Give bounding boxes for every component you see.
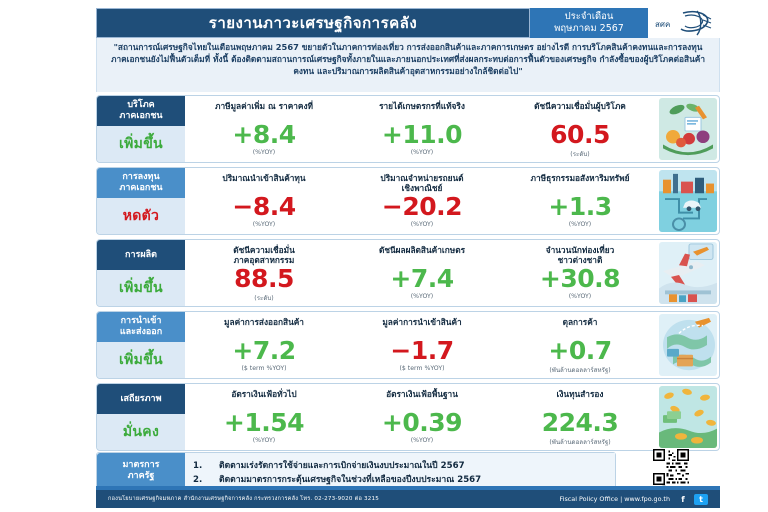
metric-value: 88.5	[234, 266, 294, 292]
metrics-group: มูลค่าการส่งออกสินค้า +7.2 ($ term %YOY)…	[185, 312, 659, 378]
category-title: การนำเข้าและส่งออก	[97, 312, 185, 342]
metrics-group: อัตราเงินเฟ้อทั่วไป +1.54 (%YOY) อัตราเง…	[185, 384, 659, 450]
metrics-group: ดัชนีความเชื่อมั่นภาคอุตสาหกรรม 88.5 (ระ…	[185, 240, 659, 306]
metric-label: อัตราเงินเฟ้อทั่วไป	[231, 389, 296, 409]
metric-label: ดัชนีผลผลิตสินค้าเกษตร	[379, 245, 465, 265]
metric-value: −8.4	[232, 194, 295, 220]
metric-value: −20.2	[382, 194, 462, 220]
status-badge: หดตัว	[97, 198, 185, 234]
metric-value: +0.7	[548, 338, 611, 364]
metric-cell: จำนวนนักท่องเที่ยวชาวต่างชาติ +30.8 (%YO…	[501, 240, 659, 306]
category-title: การผลิต	[97, 240, 185, 270]
period-label: ประจำเดือน	[565, 11, 614, 23]
metric-unit: ($ term %YOY)	[399, 365, 444, 372]
metric-cell: ภาษีมูลค่าเพิ่ม ณ ราคาคงที่ +8.4 (%YOY)	[185, 96, 343, 162]
indicator-row-investment: การลงทุนภาคเอกชน หดตัว ปริมาณนำเข้าสินค้…	[96, 167, 720, 235]
metric-label: เงินทุนสำรอง	[557, 389, 604, 409]
metric-value: +7.4	[390, 266, 453, 292]
metric-unit: (พันล้านดอลลาร์สหรัฐ)	[549, 437, 610, 447]
metric-value: +1.3	[548, 194, 611, 220]
category-title: มาตรการภาครัฐ	[97, 453, 185, 489]
metrics-group: ภาษีมูลค่าเพิ่ม ณ ราคาคงที่ +8.4 (%YOY) …	[185, 96, 659, 162]
indicator-row-production: การผลิต เพิ่มขึ้น ดัชนีความเชื่อมั่นภาคอ…	[96, 239, 720, 307]
category-title: การลงทุนภาคเอกชน	[97, 168, 185, 198]
fpo-logo-icon: สศค	[648, 8, 720, 38]
metric-label: มูลค่าการส่งออกสินค้า	[224, 317, 304, 337]
metric-unit: (%YOY)	[411, 221, 433, 228]
metric-label: มูลค่าการนำเข้าสินค้า	[382, 317, 461, 337]
metric-value: +7.2	[232, 338, 295, 364]
metric-value: +11.0	[382, 122, 462, 148]
infographic-page: รายงานภาวะเศรษฐกิจการคลัง ประจำเดือน พฤษ…	[0, 0, 768, 512]
metric-label: ดุลการค้า	[563, 317, 598, 337]
category-block: มาตรการภาครัฐ	[97, 453, 185, 489]
investment-factory-icon	[659, 170, 717, 232]
footer-contact: กองนโยบายเศรษฐกิจมหภาค สำนักงานเศรษฐกิจก…	[96, 495, 559, 503]
metric-cell: อัตราเงินเฟ้อพื้นฐาน +0.39 (%YOY)	[343, 384, 501, 450]
metric-label: ดัชนีความเชื่อมั่นผู้บริโภค	[534, 101, 626, 121]
qr-code-icon[interactable]	[652, 449, 690, 485]
metric-label: ปริมาณจำหน่ายรถยนต์เชิงพาณิชย์	[380, 173, 463, 193]
stability-coins-icon	[659, 386, 717, 448]
metric-unit: (%YOY)	[569, 221, 591, 228]
category-title: บริโภคภาคเอกชน	[97, 96, 185, 126]
metric-unit: (%YOY)	[253, 221, 275, 228]
period-badge: ประจำเดือน พฤษภาคม 2567	[530, 8, 648, 38]
metric-cell: รายได้เกษตรกรที่แท้จริง +11.0 (%YOY)	[343, 96, 501, 162]
metric-unit: (พันล้านดอลลาร์สหรัฐ)	[549, 365, 610, 375]
metric-value: 224.3	[542, 410, 619, 436]
metric-unit: (%YOY)	[569, 293, 591, 300]
metric-unit: (%YOY)	[411, 293, 433, 300]
list-item-number: 2.	[193, 475, 219, 485]
trade-globe-icon	[659, 314, 717, 376]
metric-value: +1.54	[224, 410, 304, 436]
metric-value: −1.7	[390, 338, 453, 364]
metric-label: ดัชนีความเชื่อมั่นภาคอุตสาหกรรม	[233, 245, 295, 265]
category-block: การนำเข้าและส่งออก เพิ่มขึ้น	[97, 312, 185, 378]
metric-unit: (%YOY)	[253, 437, 275, 444]
category-block: บริโภคภาคเอกชน เพิ่มขึ้น	[97, 96, 185, 162]
category-title: เสถียรภาพ	[97, 384, 185, 414]
indicator-row-consumption: บริโภคภาคเอกชน เพิ่มขึ้น ภาษีมูลค่าเพิ่ม…	[96, 95, 720, 163]
metric-label: จำนวนนักท่องเที่ยวชาวต่างชาติ	[546, 245, 615, 265]
metric-value: +30.8	[540, 266, 620, 292]
metric-unit: (ระดับ)	[570, 149, 589, 159]
metric-cell: ปริมาณจำหน่ายรถยนต์เชิงพาณิชย์ −20.2 (%Y…	[343, 168, 501, 234]
metric-label: ภาษีมูลค่าเพิ่ม ณ ราคาคงที่	[215, 101, 313, 121]
metric-label: อัตราเงินเฟ้อพื้นฐาน	[386, 389, 458, 409]
metric-value: 60.5	[550, 122, 610, 148]
metric-unit: ($ term %YOY)	[241, 365, 286, 372]
metric-cell: มูลค่าการนำเข้าสินค้า −1.7 ($ term %YOY)	[343, 312, 501, 378]
metric-cell: ภาษีธุรกรรมอสังหาริมทรัพย์ +1.3 (%YOY)	[501, 168, 659, 234]
status-badge: เพิ่มขึ้น	[97, 126, 185, 162]
page-title: รายงานภาวะเศรษฐกิจการคลัง	[96, 8, 530, 38]
status-badge: เพิ่มขึ้น	[97, 270, 185, 306]
list-item-number: 1.	[193, 461, 219, 471]
list-item: 2. ติดตามมาตรการกระตุ้นเศรษฐกิจในช่วงที่…	[193, 475, 609, 485]
category-block: เสถียรภาพ มั่นคง	[97, 384, 185, 450]
metric-cell: มูลค่าการส่งออกสินค้า +7.2 ($ term %YOY)	[185, 312, 343, 378]
metric-unit: (ระดับ)	[254, 293, 273, 303]
metric-label: รายได้เกษตรกรที่แท้จริง	[379, 101, 465, 121]
metric-cell: ดุลการค้า +0.7 (พันล้านดอลลาร์สหรัฐ)	[501, 312, 659, 378]
twitter-icon[interactable]: t	[694, 494, 708, 505]
list-item-text: ติดตามเร่งรัดการใช้จ่ายและการเบิกจ่ายเงิ…	[219, 461, 465, 471]
category-block: การผลิต เพิ่มขึ้น	[97, 240, 185, 306]
category-block: การลงทุนภาคเอกชน หดตัว	[97, 168, 185, 234]
metric-value: +0.39	[382, 410, 462, 436]
metric-unit: (%YOY)	[411, 437, 433, 444]
social-links[interactable]: f t	[676, 494, 720, 505]
metric-label: ภาษีธุรกรรมอสังหาริมทรัพย์	[531, 173, 630, 193]
metric-cell: ปริมาณนำเข้าสินค้าทุน −8.4 (%YOY)	[185, 168, 343, 234]
metric-value: +8.4	[232, 122, 295, 148]
facebook-icon[interactable]: f	[676, 494, 690, 505]
period-value: พฤษภาคม 2567	[554, 23, 624, 35]
status-badge: มั่นคง	[97, 414, 185, 450]
footer: กองนโยบายเศรษฐกิจมหภาค สำนักงานเศรษฐกิจก…	[96, 490, 720, 508]
metric-unit: (%YOY)	[411, 149, 433, 156]
metric-cell: อัตราเงินเฟ้อทั่วไป +1.54 (%YOY)	[185, 384, 343, 450]
production-airplane-icon	[659, 242, 717, 304]
indicator-row-trade: การนำเข้าและส่งออก เพิ่มขึ้น มูลค่าการส่…	[96, 311, 720, 379]
metric-cell: ดัชนีผลผลิตสินค้าเกษตร +7.4 (%YOY)	[343, 240, 501, 306]
list-item-text: ติดตามมาตรการกระตุ้นเศรษฐกิจในช่วงที่เหล…	[219, 475, 481, 485]
metric-label: ปริมาณนำเข้าสินค้าทุน	[222, 173, 305, 193]
consumption-vegetables-icon	[659, 98, 717, 160]
metric-cell: เงินทุนสำรอง 224.3 (พันล้านดอลลาร์สหรัฐ)	[501, 384, 659, 450]
indicator-row-stability: เสถียรภาพ มั่นคง อัตราเงินเฟ้อทั่วไป +1.…	[96, 383, 720, 451]
header: รายงานภาวะเศรษฐกิจการคลัง ประจำเดือน พฤษ…	[96, 8, 720, 38]
metric-cell: ดัชนีความเชื่อมั่นภาคอุตสาหกรรม 88.5 (ระ…	[185, 240, 343, 306]
measures-list: 1. ติดตามเร่งรัดการใช้จ่ายและการเบิกจ่าย…	[185, 453, 615, 489]
status-badge: เพิ่มขึ้น	[97, 342, 185, 378]
svg-text:สศค: สศค	[655, 20, 670, 29]
metrics-group: ปริมาณนำเข้าสินค้าทุน −8.4 (%YOY) ปริมาณ…	[185, 168, 659, 234]
government-measures-row: มาตรการภาครัฐ 1. ติดตามเร่งรัดการใช้จ่าย…	[96, 452, 616, 490]
footer-office: Fiscal Policy Office | www.fpo.go.th	[559, 495, 676, 503]
metric-unit: (%YOY)	[253, 149, 275, 156]
metric-cell: ดัชนีความเชื่อมั่นผู้บริโภค 60.5 (ระดับ)	[501, 96, 659, 162]
summary-paragraph: "สถานการณ์เศรษฐกิจไทยในเดือนพฤษภาคม 2567…	[96, 38, 720, 92]
list-item: 1. ติดตามเร่งรัดการใช้จ่ายและการเบิกจ่าย…	[193, 461, 609, 471]
